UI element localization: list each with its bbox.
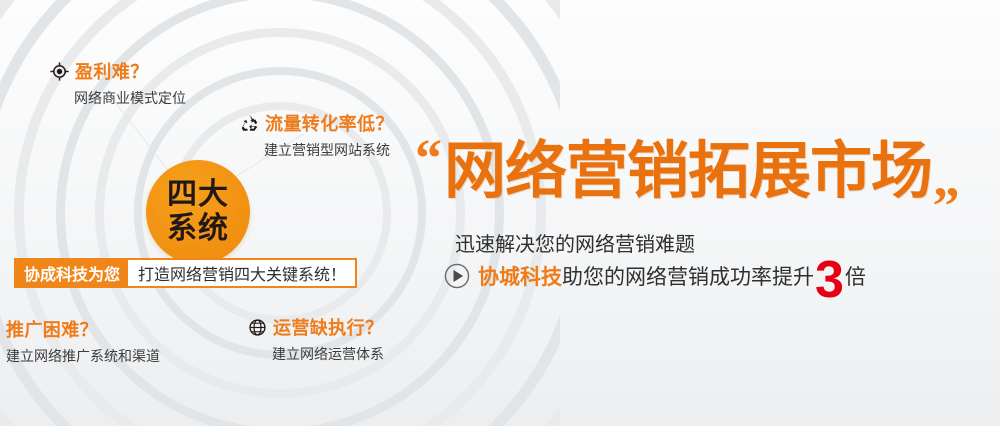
- pain-point-operations-title: 运营缺执行？: [273, 314, 383, 340]
- pain-point-operations: 运营缺执行？ 建立网络运营体系: [248, 314, 384, 364]
- pain-point-operations-head: 运营缺执行？: [248, 314, 384, 340]
- callout-strip-tag: 协成科技为您: [16, 260, 128, 286]
- pain-point-profit: 盈利难？ 网络商业模式定位: [50, 58, 186, 108]
- multiplier-number: 3: [815, 262, 844, 298]
- pain-point-profit-title: 盈利难？: [75, 58, 149, 84]
- pain-point-traffic-title: 流量转化率低？: [265, 110, 394, 136]
- subheadline-line-2: 协城科技 助您的网络营销成功率提升 3 倍: [443, 258, 866, 294]
- subheadline-line-2-text: 助您的网络营销成功率提升: [562, 261, 814, 291]
- callout-strip-text: 打造网络营销四大关键系统！: [128, 260, 355, 286]
- multiplier-unit: 倍: [845, 261, 866, 291]
- globe-icon: [248, 318, 267, 337]
- quote-close-icon: „: [933, 156, 960, 200]
- pain-point-operations-subtitle: 建立网络运营体系: [272, 344, 384, 364]
- pain-point-promotion-subtitle: 建立网络推广系统和渠道: [6, 346, 160, 366]
- pain-point-profit-subtitle: 网络商业模式定位: [74, 88, 186, 108]
- pain-point-promotion: 推广困难？ 建立网络推广系统和渠道: [6, 316, 160, 366]
- headline: 网络营销拓展市场: [444, 140, 932, 202]
- quote-open-icon: “: [415, 136, 442, 180]
- center-badge-line-2: 系统: [167, 214, 229, 244]
- pain-point-promotion-title: 推广困难？: [6, 316, 98, 342]
- pain-point-profit-head: 盈利难？: [50, 58, 186, 84]
- play-circle-icon: [443, 262, 471, 290]
- headline-row: “ 网络营销拓展市场 „: [415, 140, 960, 202]
- pain-point-traffic-head: 流量转化率低？: [240, 110, 394, 136]
- center-badge: 四大 系统: [146, 160, 250, 264]
- marketing-banner: 四大 系统 盈利难？ 网络商业模式定位: [0, 0, 1000, 426]
- pain-point-promotion-head: 推广困难？: [6, 316, 160, 342]
- recycle-icon: [240, 114, 259, 133]
- pain-point-traffic: 流量转化率低？ 建立营销型网站系统: [240, 110, 394, 160]
- subheadline-line-1: 迅速解决您的网络营销难题: [455, 228, 695, 257]
- center-badge-line-1: 四大: [167, 180, 229, 210]
- right-copy-panel: “ 网络营销拓展市场 „ 迅速解决您的网络营销难题 协城科技 助您的网络营销成功…: [415, 0, 1000, 426]
- callout-strip: 协成科技为您 打造网络营销四大关键系统！: [14, 258, 357, 288]
- brand-name: 协城科技: [478, 261, 562, 291]
- pain-point-traffic-subtitle: 建立营销型网站系统: [264, 140, 394, 160]
- target-icon: [50, 62, 69, 81]
